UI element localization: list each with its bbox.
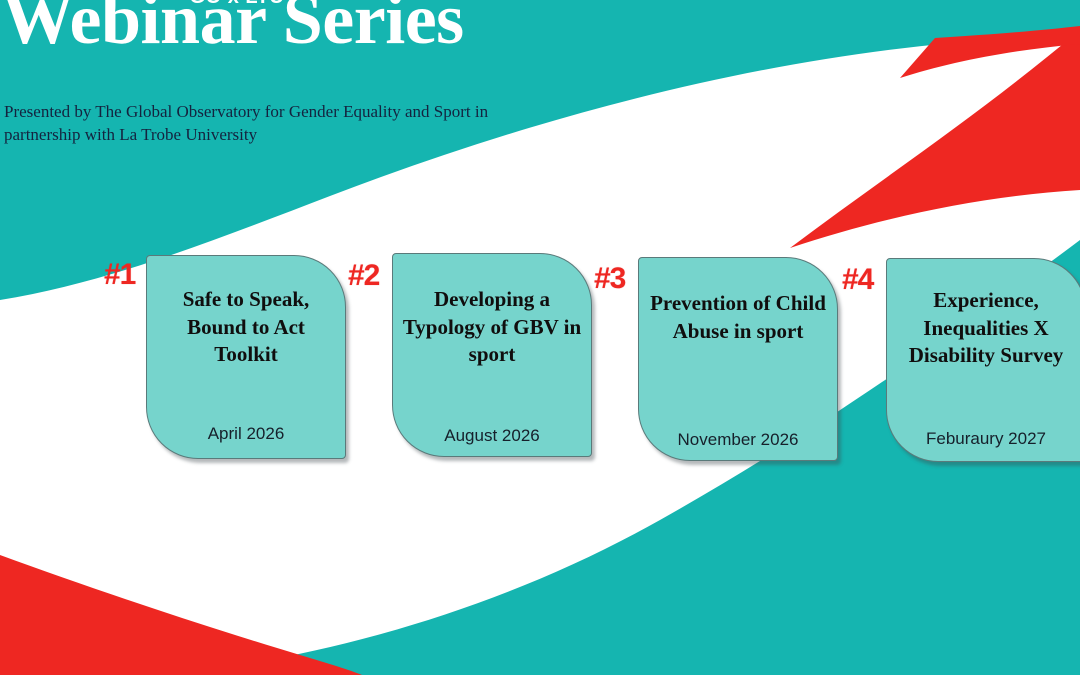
card-title-4: Experience, Inequalities X Disability Su… — [887, 287, 1080, 370]
step-number-1: #1 — [104, 260, 135, 290]
step-number-4: #4 — [842, 265, 873, 295]
step-number-3: #3 — [594, 264, 625, 294]
timeline-card-2[interactable]: Developing a Typology of GBV in sport Au… — [392, 253, 592, 457]
card-title-2: Developing a Typology of GBV in sport — [393, 286, 591, 369]
poster-subtitle: Presented by The Global Observatory for … — [4, 100, 564, 147]
timeline-card-1[interactable]: Safe to Speak, Bound to Act Toolkit Apri… — [146, 255, 346, 459]
timeline-card-3[interactable]: Prevention of Child Abuse in sport Novem… — [638, 257, 838, 461]
webinar-series-poster: • GO x LTU Webinar Series Presented by T… — [0, 0, 1080, 675]
card-date-3: November 2026 — [639, 430, 837, 450]
card-date-4: Feburaury 2027 — [887, 429, 1080, 449]
timeline-card-4[interactable]: Experience, Inequalities X Disability Su… — [886, 258, 1080, 462]
card-title-1: Safe to Speak, Bound to Act Toolkit — [147, 286, 345, 369]
card-title-3: Prevention of Child Abuse in sport — [639, 290, 837, 345]
step-number-2: #2 — [348, 261, 379, 291]
card-date-2: August 2026 — [393, 426, 591, 446]
page-title: Webinar Series — [2, 0, 464, 55]
card-date-1: April 2026 — [147, 424, 345, 444]
